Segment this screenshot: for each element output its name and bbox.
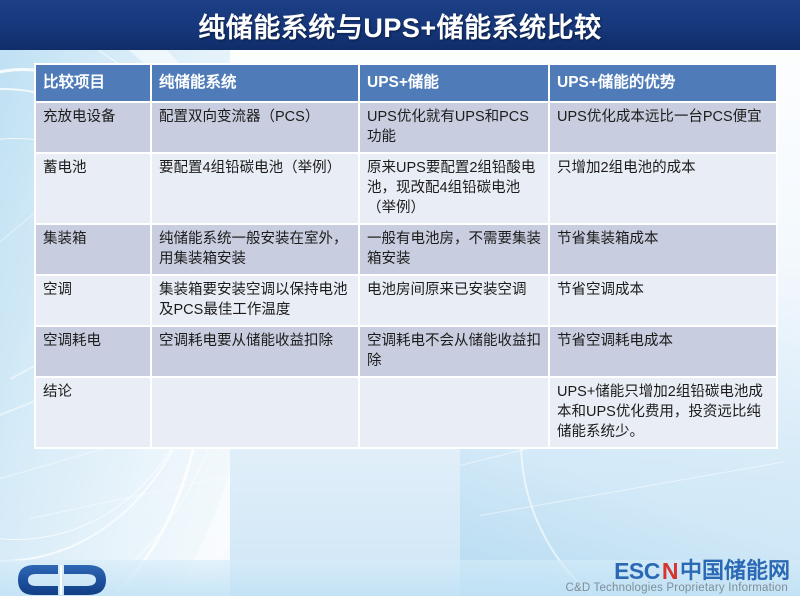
decor-line — [30, 474, 230, 519]
cell-ups-ess: 空调耗电不会从储能收益扣除 — [359, 326, 549, 377]
proprietary-notice: C&D Technologies Proprietary Information — [565, 582, 788, 594]
decor-line — [480, 461, 785, 516]
table-row: 空调 集装箱要安装空调以保持电池及PCS最佳工作温度 电池房间原来已安装空调 节… — [35, 275, 777, 326]
column-header-ups-ess: UPS+储能 — [359, 64, 549, 102]
cell-advantage: UPS+储能只增加2组铅碳电池成本和UPS优化费用，投资远比纯储能系统少。 — [549, 377, 777, 448]
table-row-conclusion: 结论 UPS+储能只增加2组铅碳电池成本和UPS优化费用，投资远比纯储能系统少。 — [35, 377, 777, 448]
cell-pure-ess: 纯储能系统一般安装在室外，用集装箱安装 — [151, 224, 359, 275]
cell-item: 充放电设备 — [35, 102, 151, 153]
cell-item: 空调 — [35, 275, 151, 326]
comparison-table: 比较项目 纯储能系统 UPS+储能 UPS+储能的优势 充放电设备 配置双向变流… — [34, 63, 778, 449]
cell-ups-ess: 原来UPS要配置2组铅酸电池，现改配4组铅碳电池（举例） — [359, 153, 549, 224]
cell-ups-ess — [359, 377, 549, 448]
escn-watermark-n: N — [662, 560, 678, 582]
cell-pure-ess: 要配置4组铅碳电池（举例） — [151, 153, 359, 224]
table-row: 集装箱 纯储能系统一般安装在室外，用集装箱安装 一般有电池房，不需要集装箱安装 … — [35, 224, 777, 275]
cell-ups-ess: 电池房间原来已安装空调 — [359, 275, 549, 326]
cell-pure-ess — [151, 377, 359, 448]
cell-item: 蓄电池 — [35, 153, 151, 224]
cell-advantage: UPS优化成本远比一台PCS便宜 — [549, 102, 777, 153]
cell-advantage: 节省空调成本 — [549, 275, 777, 326]
cd-technologies-logo — [14, 560, 134, 596]
title-band: 纯储能系统与UPS+储能系统比较 — [0, 0, 800, 50]
cell-pure-ess: 空调耗电要从储能收益扣除 — [151, 326, 359, 377]
cell-advantage: 节省空调耗电成本 — [549, 326, 777, 377]
page-title: 纯储能系统与UPS+储能系统比较 — [198, 6, 601, 45]
table-body: 充放电设备 配置双向变流器（PCS） UPS优化就有UPS和PCS功能 UPS优… — [35, 102, 777, 448]
table-row: 蓄电池 要配置4组铅碳电池（举例） 原来UPS要配置2组铅酸电池，现改配4组铅碳… — [35, 153, 777, 224]
escn-watermark: ESC N 中国储能网 — [614, 558, 790, 582]
cell-advantage: 节省集装箱成本 — [549, 224, 777, 275]
cell-ups-ess: UPS优化就有UPS和PCS功能 — [359, 102, 549, 153]
column-header-item: 比较项目 — [35, 64, 151, 102]
slide-canvas: 纯储能系统与UPS+储能系统比较 比较项目 纯储能系统 UPS+储能 UPS+储… — [0, 0, 800, 596]
table-header-row: 比较项目 纯储能系统 UPS+储能 UPS+储能的优势 — [35, 64, 777, 102]
cell-item: 结论 — [35, 377, 151, 448]
escn-watermark-cn: 中国储能网 — [680, 560, 790, 582]
cell-pure-ess: 配置双向变流器（PCS） — [151, 102, 359, 153]
column-header-advantage: UPS+储能的优势 — [549, 64, 777, 102]
cell-pure-ess: 集装箱要安装空调以保持电池及PCS最佳工作温度 — [151, 275, 359, 326]
cell-item: 空调耗电 — [35, 326, 151, 377]
table-row: 充放电设备 配置双向变流器（PCS） UPS优化就有UPS和PCS功能 UPS优… — [35, 102, 777, 153]
cell-ups-ess: 一般有电池房，不需要集装箱安装 — [359, 224, 549, 275]
table-row: 空调耗电 空调耗电要从储能收益扣除 空调耗电不会从储能收益扣除 节省空调耗电成本 — [35, 326, 777, 377]
cell-item: 集装箱 — [35, 224, 151, 275]
footer-bar: ESC N 中国储能网 C&D Technologies Proprietary… — [0, 560, 800, 596]
column-header-pure-ess: 纯储能系统 — [151, 64, 359, 102]
cell-advantage: 只增加2组电池的成本 — [549, 153, 777, 224]
escn-watermark-esc: ESC — [614, 560, 660, 582]
